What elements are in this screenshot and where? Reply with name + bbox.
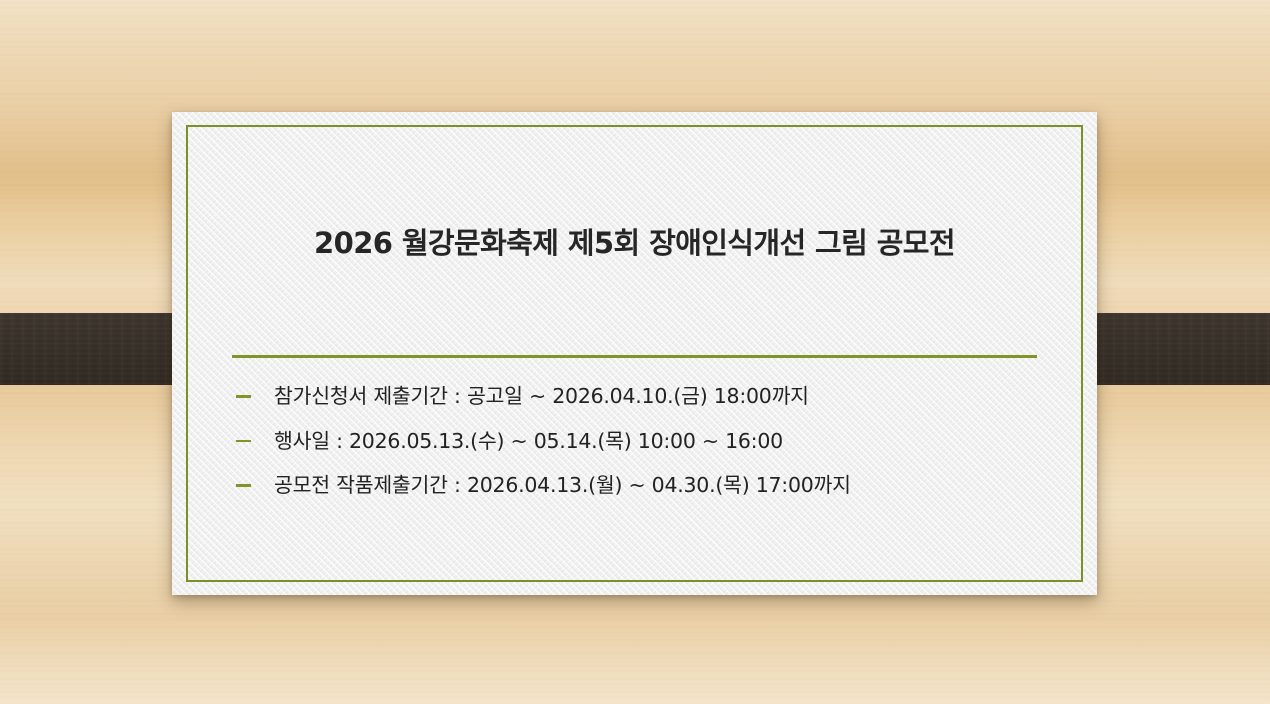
list-item-label: 공모전 작품제출기간 : 2026.04.13.(월) ~ 04.30.(목) … <box>274 473 851 497</box>
title-divider <box>232 355 1037 358</box>
content-card: 2026 월강문화축제 제5회 장애인식개선 그림 공모전 참가신청서 제출기간… <box>172 112 1097 595</box>
dash-bullet-icon <box>236 440 251 443</box>
list-item-label: 행사일 : 2026.05.13.(수) ~ 05.14.(목) 10:00 ~… <box>274 429 783 453</box>
dash-bullet-icon <box>236 395 251 398</box>
list-item: 공모전 작품제출기간 : 2026.04.13.(월) ~ 04.30.(목) … <box>232 473 1057 499</box>
dash-bullet-icon <box>236 484 251 487</box>
list-item: 행사일 : 2026.05.13.(수) ~ 05.14.(목) 10:00 ~… <box>232 429 1057 455</box>
schedule-list: 참가신청서 제출기간 : 공고일 ~ 2026.04.10.(금) 18:00까… <box>232 384 1057 499</box>
card-content: 2026 월강문화축제 제5회 장애인식개선 그림 공모전 참가신청서 제출기간… <box>172 112 1097 595</box>
list-item: 참가신청서 제출기간 : 공고일 ~ 2026.04.10.(금) 18:00까… <box>232 384 1057 410</box>
list-item-label: 참가신청서 제출기간 : 공고일 ~ 2026.04.10.(금) 18:00까… <box>274 384 809 408</box>
page-title: 2026 월강문화축제 제5회 장애인식개선 그림 공모전 <box>172 220 1097 262</box>
slide-background: 2026 월강문화축제 제5회 장애인식개선 그림 공모전 참가신청서 제출기간… <box>0 0 1270 704</box>
